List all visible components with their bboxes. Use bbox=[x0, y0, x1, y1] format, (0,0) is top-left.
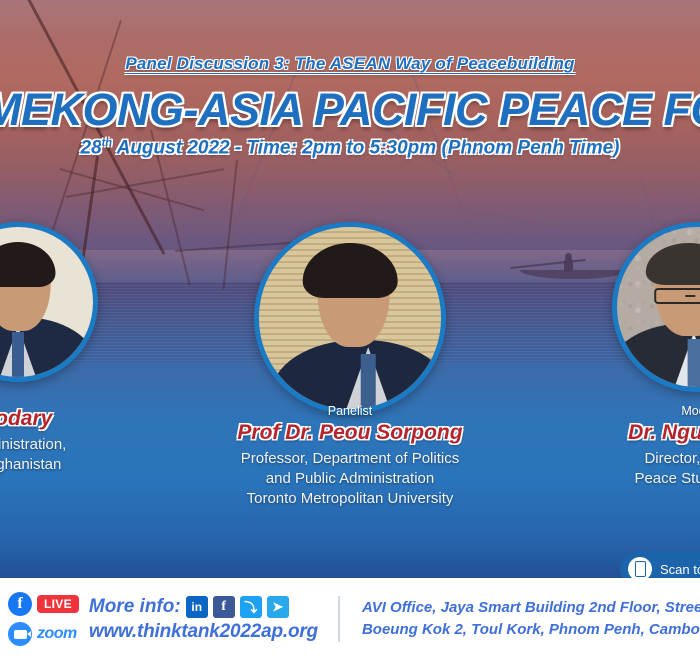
speaker-role-right: Mode bbox=[537, 404, 700, 418]
event-poster: Panel Discussion 3: The ASEAN Way of Pea… bbox=[0, 0, 700, 660]
scan-label: Scan to bbox=[660, 562, 700, 577]
speaker-name-right: Dr. Nguonpha bbox=[537, 421, 700, 445]
speaker-affiliation-center: Professor, Department of Politics and Pu… bbox=[190, 449, 510, 509]
figure-tie bbox=[687, 339, 700, 387]
website-link[interactable]: www.thinktank2022ap.org bbox=[89, 621, 318, 643]
speaker-name-left: thsodary bbox=[0, 407, 168, 431]
facebook-live-badge[interactable]: f LIVE bbox=[8, 592, 79, 616]
fisherman-boat bbox=[520, 258, 630, 280]
speaker-affiliation-line: Professor, Department of Politics bbox=[190, 449, 510, 469]
speaker-photo-center-image bbox=[259, 227, 441, 409]
speaker-photo-center bbox=[254, 222, 446, 414]
figure-tie bbox=[12, 332, 24, 377]
eyeglasses-icon bbox=[654, 288, 700, 304]
footer-left-group: f LIVE zoom More info: in f ⤵ ➤ www.thin… bbox=[0, 592, 700, 646]
figure-hair bbox=[303, 243, 398, 298]
telegram-icon[interactable]: ➤ bbox=[267, 596, 289, 618]
fishing-pole bbox=[510, 259, 586, 269]
speaker-affiliation-left: lic Administration, y of Afghanistan bbox=[0, 435, 168, 475]
speaker-photo-right bbox=[612, 222, 700, 392]
zoom-badge[interactable]: zoom bbox=[8, 622, 79, 646]
speaker-photo-left bbox=[0, 222, 98, 382]
event-date-ordinal: th bbox=[102, 137, 112, 149]
live-label: LIVE bbox=[37, 595, 79, 613]
speaker-affiliation-line: Toronto Metropolitan University bbox=[190, 489, 510, 509]
speaker-block-right: Mode Dr. Nguonpha Director, Centre Peace… bbox=[537, 404, 700, 489]
figure-hair bbox=[0, 242, 56, 287]
speaker-block-center: Panelist Prof Dr. Peou Sorpong Professor… bbox=[190, 404, 510, 509]
speaker-photo-right-image bbox=[617, 227, 700, 387]
venue-address-line: AVI Office, Jaya Smart Building 2nd Floo… bbox=[362, 597, 700, 619]
event-datetime: 28th August 2022 - Time: 2pm to 5:30pm (… bbox=[0, 137, 700, 159]
speaker-affiliation-line: lic Administration, bbox=[0, 435, 168, 455]
linkedin-icon[interactable]: in bbox=[186, 596, 208, 618]
panel-discussion-subtitle: Panel Discussion 3: The ASEAN Way of Pea… bbox=[0, 54, 700, 74]
footer-bar: f LIVE zoom More info: in f ⤵ ➤ www.thin… bbox=[0, 578, 700, 660]
zoom-label: zoom bbox=[37, 625, 77, 643]
facebook-icon: f bbox=[8, 592, 32, 616]
figure-tie bbox=[361, 354, 376, 409]
twitter-icon[interactable]: ⤵ bbox=[240, 596, 262, 618]
facebook-icon[interactable]: f bbox=[213, 596, 235, 618]
speaker-role-center: Panelist bbox=[190, 404, 510, 418]
speaker-affiliation-line: y of Afghanistan bbox=[0, 455, 168, 475]
venue-address-line: Boeung Kok 2, Toul Kork, Phnom Penh, Cam… bbox=[362, 619, 700, 641]
boat-hull bbox=[520, 270, 628, 279]
speaker-affiliation-line: and Public Administration bbox=[190, 469, 510, 489]
zoom-camera-icon bbox=[8, 622, 32, 646]
figure-hair bbox=[646, 243, 700, 285]
speaker-affiliation-right: Director, Centre Peace Studies, Asi bbox=[537, 449, 700, 489]
speaker-block-left: thsodary lic Administration, y of Afghan… bbox=[0, 404, 168, 475]
more-info-label: More info: bbox=[89, 596, 181, 618]
speaker-affiliation-line: Peace Studies, Asi bbox=[537, 469, 700, 489]
more-info-block: More info: in f ⤵ ➤ www.thinktank2022ap.… bbox=[89, 596, 318, 643]
footer-divider bbox=[338, 596, 340, 642]
event-date-day: 28 bbox=[81, 137, 102, 158]
venue-address: AVI Office, Jaya Smart Building 2nd Floo… bbox=[362, 597, 700, 641]
event-date-rest: August 2022 - Time: 2pm to 5:30pm (Phnom… bbox=[112, 137, 619, 158]
more-info-row: More info: in f ⤵ ➤ bbox=[89, 596, 318, 618]
speaker-name-center: Prof Dr. Peou Sorpong bbox=[190, 421, 510, 445]
speaker-affiliation-line: Director, Centre bbox=[537, 449, 700, 469]
broadcast-badges: f LIVE zoom bbox=[8, 592, 79, 646]
speaker-photo-left-image bbox=[0, 227, 93, 377]
page-title: MEKONG-ASIA PACIFIC PEACE FORUM bbox=[0, 84, 700, 136]
